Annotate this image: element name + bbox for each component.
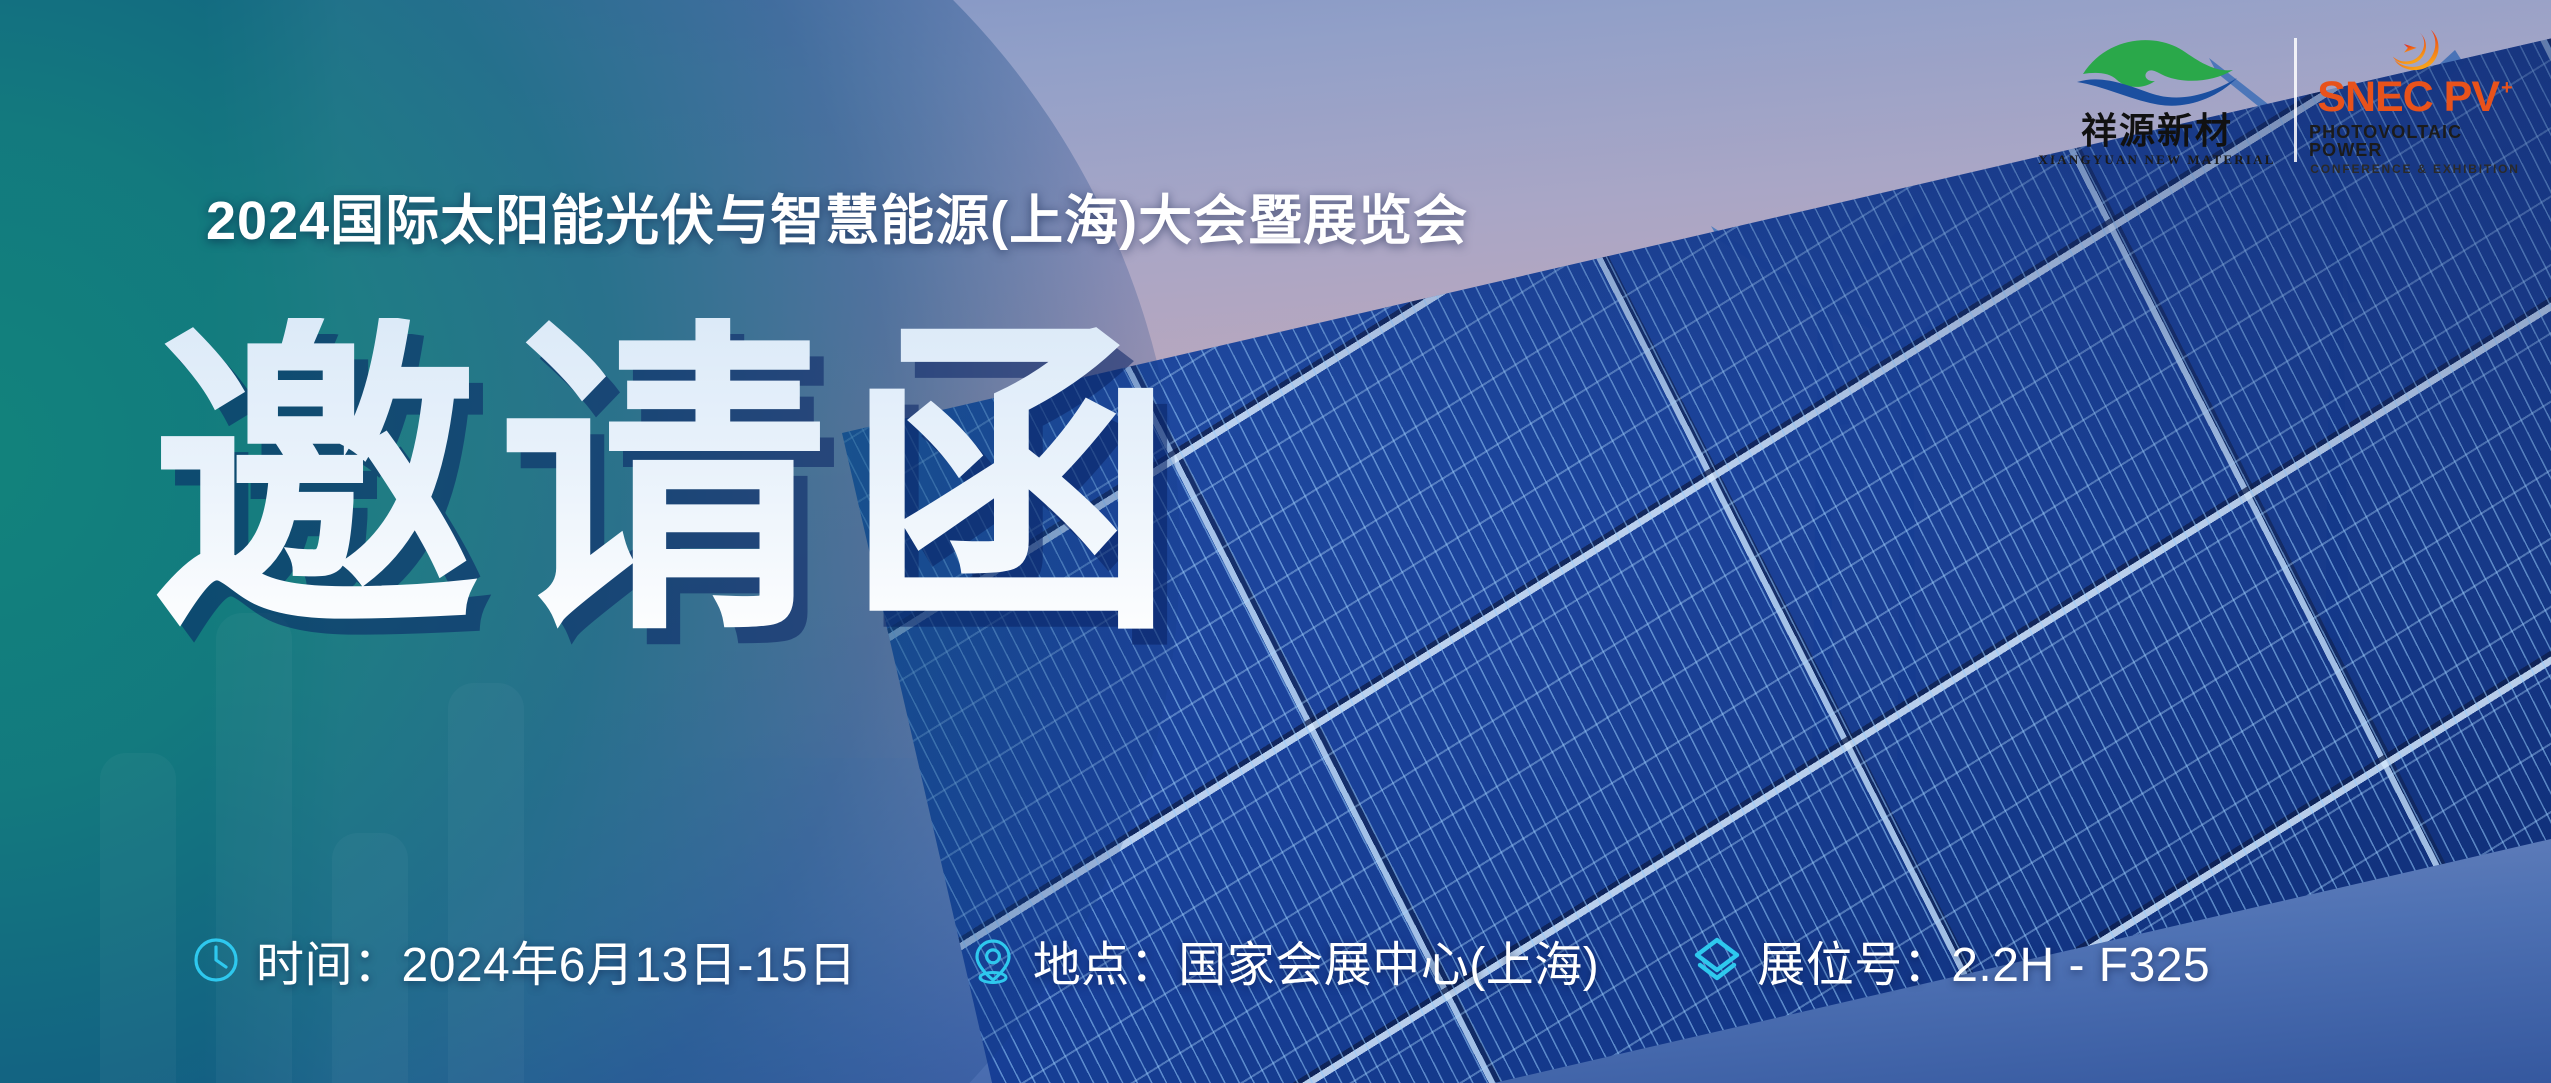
xiangyuan-name-cn: 祥源新材 — [2081, 113, 2233, 149]
layers-icon — [1691, 934, 1743, 986]
event-info-bar: 时间：2024年6月13日-15日 地点：国家会展中心(上海) 展位号：2.2H… — [190, 925, 2491, 995]
event-date-text: 时间：2024年6月13日-15日 — [256, 925, 857, 995]
event-booth-text: 展位号：2.2H - F325 — [1757, 925, 2210, 995]
location-pin-icon — [967, 934, 1019, 986]
logo-divider — [2294, 38, 2297, 162]
event-subtitle: 2024国际太阳能光伏与智慧能源(上海)大会暨展览会 — [206, 176, 1468, 255]
page-title: 邀请函 — [150, 318, 1194, 648]
event-booth-item: 展位号：2.2H - F325 — [1691, 925, 2210, 995]
event-place-item: 地点：国家会展中心(上海) — [967, 925, 1599, 995]
clock-icon — [190, 934, 242, 986]
snec-plus-superscript: + — [2501, 78, 2513, 98]
event-place-text: 地点：国家会展中心(上海) — [1033, 925, 1599, 995]
invitation-banner: 2024国际太阳能光伏与智慧能源(上海)大会暨展览会 邀请函 时间：2024年6… — [0, 0, 2551, 1083]
snec-tagline-2: CONFERENCE & EXHIBITION — [2310, 163, 2519, 175]
snec-wordmark: SNEC PV + — [2317, 76, 2512, 119]
event-date-item: 时间：2024年6月13日-15日 — [190, 925, 857, 995]
snec-tagline-1: PHOTOVOLTAIC POWER — [2309, 123, 2521, 159]
xiangyuan-wave-mark — [2073, 38, 2241, 110]
snec-wordmark-text: SNEC PV — [2317, 76, 2499, 119]
xiangyuan-logo: 祥源新材 XIANGYUAN NEW MATERIAL — [2032, 25, 2282, 175]
snec-logo: SNEC PV + PHOTOVOLTAIC POWER CONFERENCE … — [2309, 25, 2521, 175]
logo-group: 祥源新材 XIANGYUAN NEW MATERIAL SNEC PV — [2032, 22, 2521, 178]
xiangyuan-name-en: XIANGYUAN NEW MATERIAL — [2038, 153, 2275, 166]
snec-swoosh-mark — [2373, 25, 2457, 74]
